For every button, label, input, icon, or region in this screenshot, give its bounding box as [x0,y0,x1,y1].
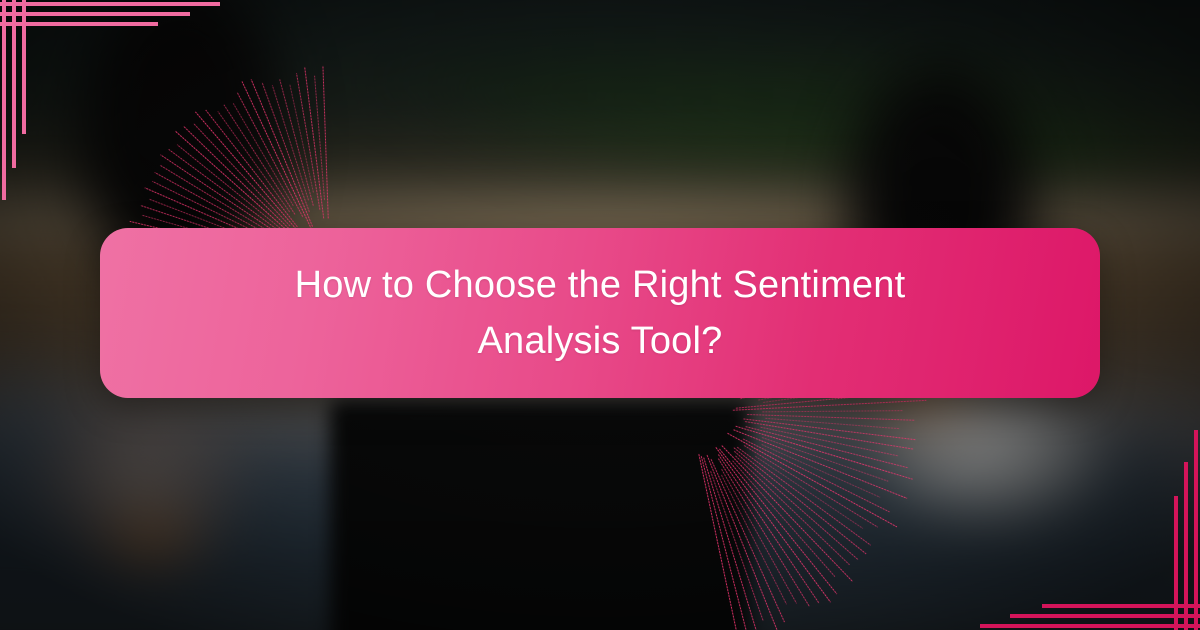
title-banner: How to Choose the Right Sentiment Analys… [100,228,1100,398]
social-card: How to Choose the Right Sentiment Analys… [0,0,1200,630]
page-title: How to Choose the Right Sentiment Analys… [250,257,950,369]
